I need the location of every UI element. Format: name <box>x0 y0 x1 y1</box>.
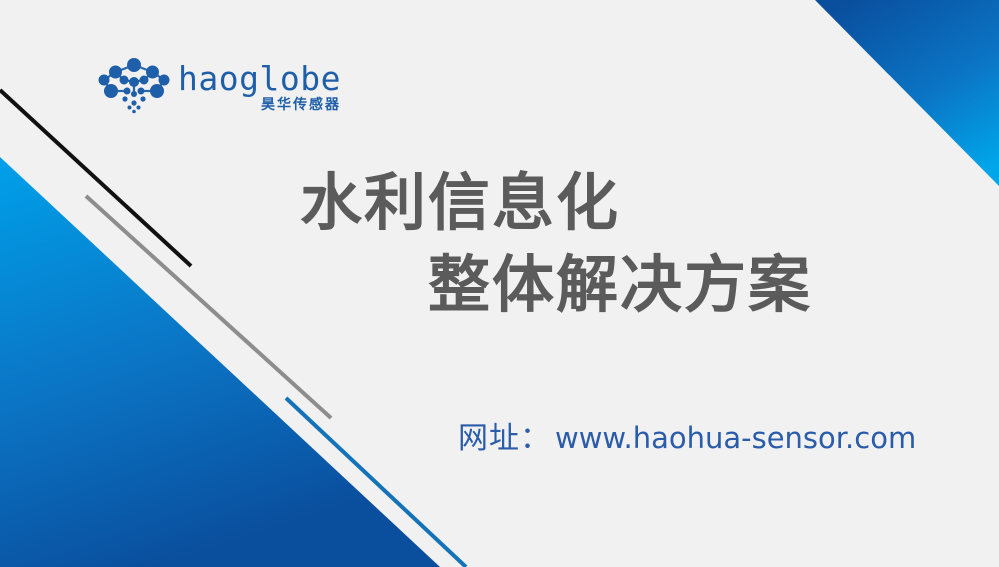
website-line: 网址： www.haohua-sensor.com <box>458 420 916 457</box>
title-slide: haoglobe 昊华传感器 水利信息化 整体解决方案 网址： www.haoh… <box>0 0 999 567</box>
slide-title: 水利信息化 整体解决方案 <box>300 162 900 326</box>
website-label: 网址： <box>458 421 551 457</box>
logo-wordmark: haoglobe <box>178 62 341 95</box>
website-url[interactable]: www.haohua-sensor.com <box>555 420 916 456</box>
title-line-1: 水利信息化 <box>300 162 900 244</box>
logo-text-group: haoglobe 昊华传感器 <box>178 58 341 113</box>
company-logo: haoglobe 昊华传感器 <box>98 58 318 120</box>
title-line-2: 整体解决方案 <box>300 244 900 326</box>
haoglobe-network-mark-icon <box>98 58 170 114</box>
logo-subtitle: 昊华传感器 <box>261 98 341 113</box>
